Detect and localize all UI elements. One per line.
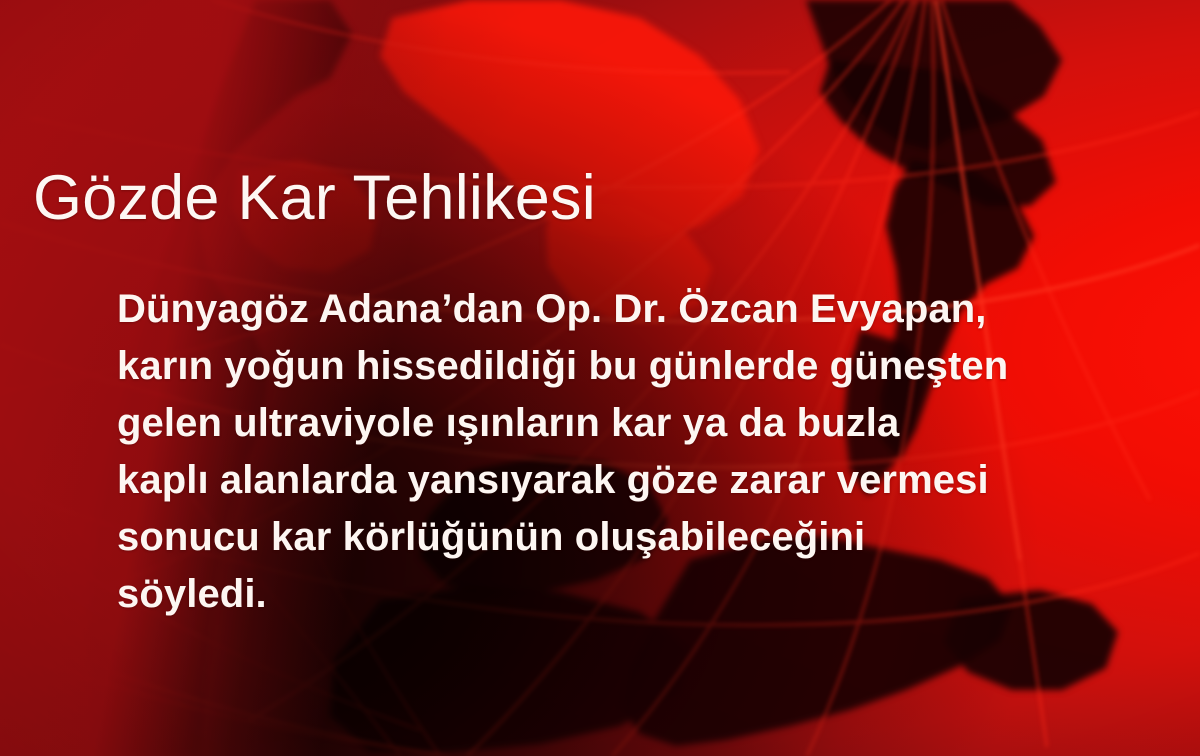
news-banner-image: Gözde Kar Tehlikesi Dünyagöz Adana’dan O… <box>0 0 1200 756</box>
article-summary-text: Dünyagöz Adana’dan Op. Dr. Özcan Evyapan… <box>117 281 1157 623</box>
summary-line: kaplı alanlarda yansıyarak göze zarar ve… <box>117 452 1157 509</box>
summary-line: gelen ultraviyole ışınların kar ya da bu… <box>117 395 1157 452</box>
summary-line: karın yoğun hissedildiği bu günlerde gün… <box>117 338 1157 395</box>
summary-line: Dünyagöz Adana’dan Op. Dr. Özcan Evyapan… <box>117 281 1157 338</box>
summary-line: sonucu kar körlüğünün oluşabileceğini <box>117 509 1157 566</box>
page-title: Gözde Kar Tehlikesi <box>33 166 596 230</box>
summary-line: söyledi. <box>117 566 1157 623</box>
